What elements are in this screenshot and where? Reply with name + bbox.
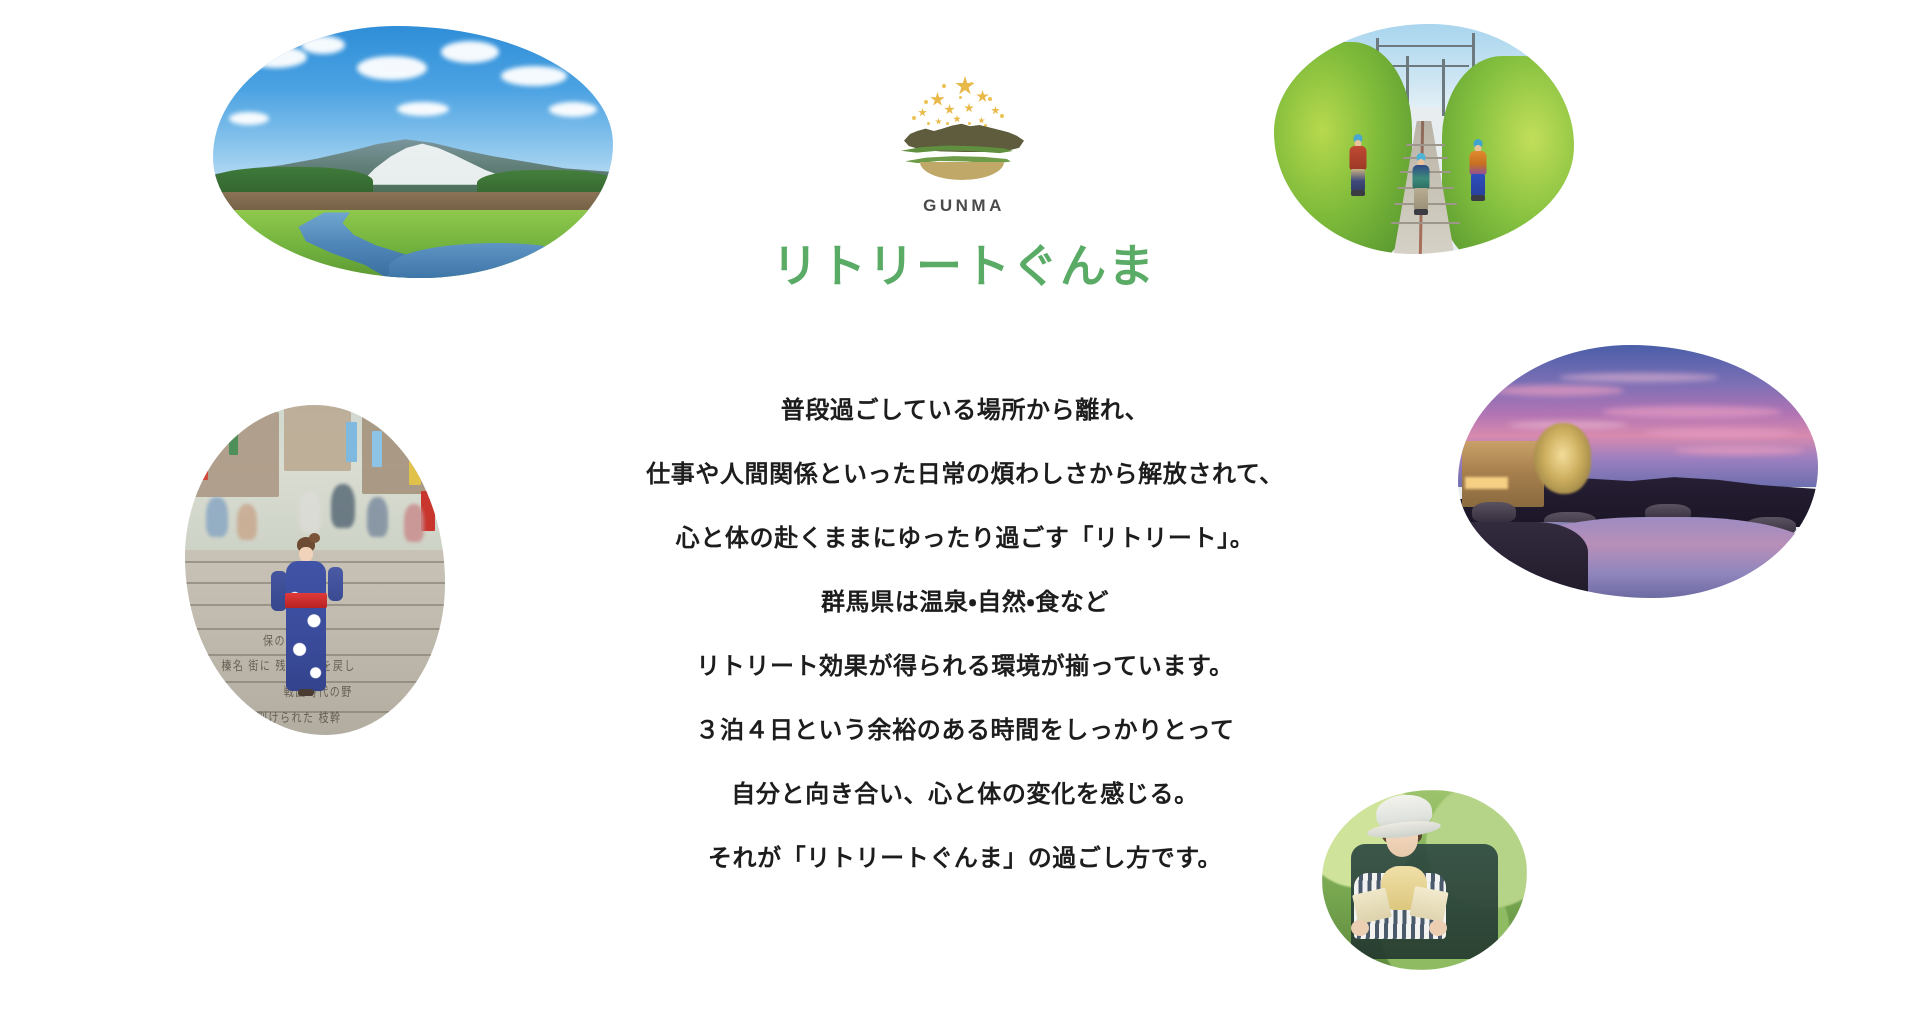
sparkle-dot [959,96,962,99]
photo-content [1458,345,1818,598]
hiker-right [1466,139,1490,203]
foliage-right [1442,56,1574,254]
sparkle-dot [927,122,930,125]
geta-sandals [298,689,314,696]
sparkle-dot [924,100,928,104]
sparkle-dot [942,84,946,88]
jacket [1413,165,1430,189]
star [918,108,927,117]
copy-line-8: それが「リトリートぐんま」の過ごし方です。 [510,826,1420,890]
sparkle-dot [988,97,992,101]
copy-line-2: 仕事や人間関係といった日常の煩わしさから解放されて、 [510,442,1420,506]
cloud [441,41,499,63]
star [976,90,989,103]
blue-banner [372,431,382,467]
cloud [301,36,345,54]
sparkle-dot [912,116,916,120]
hair-bun [309,533,320,543]
catenary-beam [1376,45,1475,47]
copy-line-7: 自分と向き合い、心と体の変化を感じる。 [510,762,1420,826]
sleeper [1391,222,1460,224]
hikers-railway-photo[interactable] [1274,24,1574,254]
stars-cluster-icon [896,70,1032,128]
logo-subtitle: GUNMA [634,196,1294,216]
red-obi-sash [285,593,327,608]
passerby [367,497,388,537]
trousers [1471,174,1485,196]
sleeve-right [328,567,343,601]
passerby [237,504,257,540]
hand-left [1351,920,1369,936]
trousers [1351,169,1365,191]
passerby [331,484,355,528]
red-banner [198,438,208,480]
sparkle-dot [1000,114,1004,118]
catenary-pole [1442,59,1445,117]
sparkle-dot [946,122,949,125]
boots [1471,195,1485,201]
catenary-beam [1382,65,1469,67]
woman-in-yukata [279,537,333,717]
photo-content [213,26,613,278]
cloud-streak [1602,406,1782,418]
hand-right [1429,920,1447,936]
rock [1472,502,1516,524]
blue-banner [346,422,357,462]
copy-line-4: 群馬県は温泉・自然・食など [510,570,1420,634]
passerby [404,504,424,542]
yellow-banner [409,451,421,485]
foreground-shadow [1458,522,1588,598]
page-root: 保の街 榛名 街に 残また彼を戻し 戦国時代の野 めに刻み削けられた 枝幹 [0,0,1929,1024]
sleeper [1406,144,1445,146]
star [930,92,945,107]
sparkle-dot [968,122,971,125]
passerby [299,491,321,533]
tan-basin [920,162,1004,180]
trousers [1414,188,1428,210]
cloud [229,112,269,125]
marshland-mountain-photo[interactable] [213,26,613,278]
yukata-stone-steps-photo[interactable]: 保の街 榛名 街に 残また彼を戻し 戦国時代の野 めに刻み削けられた 枝幹 [185,405,445,735]
star [955,76,975,96]
book-right-page [1410,886,1449,922]
yukata-robe [286,561,326,691]
cloud [549,102,597,117]
jacket [1350,146,1367,170]
photo-content: 保の街 榛名 街に 残また彼を戻し 戦国時代の野 めに刻み削けられた 枝幹 [185,405,445,735]
brand-logo-block[interactable]: GUNMA リトリートぐんま [634,70,1294,296]
boots [1351,190,1365,196]
passerby [206,497,228,537]
hiker-left [1346,134,1370,198]
green-banner [229,425,238,455]
copy-line-5: リトリート効果が得られる環境が揃っています。 [510,634,1420,698]
star [944,104,955,115]
boots [1414,209,1428,215]
star [964,103,974,113]
star [991,106,1000,115]
hiker-center [1409,153,1433,215]
illuminated-tree [1534,423,1592,494]
lit-window [1465,477,1508,490]
sparkle-dot [970,82,973,85]
star [953,115,961,123]
copy-line-1: 普段過ごしている場所から離れ、 [510,378,1420,442]
ryokan-building [1462,441,1545,507]
cloud [245,46,307,68]
photo-content [1274,24,1574,254]
copy-line-3: 心と体の赴くままにゆったり過ごす「リトリート」。 [510,506,1420,570]
intro-paragraph: 普段過ごしている場所から離れ、 仕事や人間関係といった日常の煩わしさから解放され… [510,378,1420,890]
jacket [1470,151,1487,175]
copy-line-6: ３泊４日という余裕のある時間をしっかりとって [510,698,1420,762]
gunma-mountain-mark-icon [896,70,1032,188]
cloud [397,102,449,116]
shopfront [284,405,352,471]
logo-wordmark: リトリートぐんま [634,230,1294,296]
star [935,118,942,125]
open-air-onsen-twilight-photo[interactable] [1458,345,1818,598]
face [299,547,313,562]
cloud-streak [1559,373,1719,382]
star [978,117,985,124]
